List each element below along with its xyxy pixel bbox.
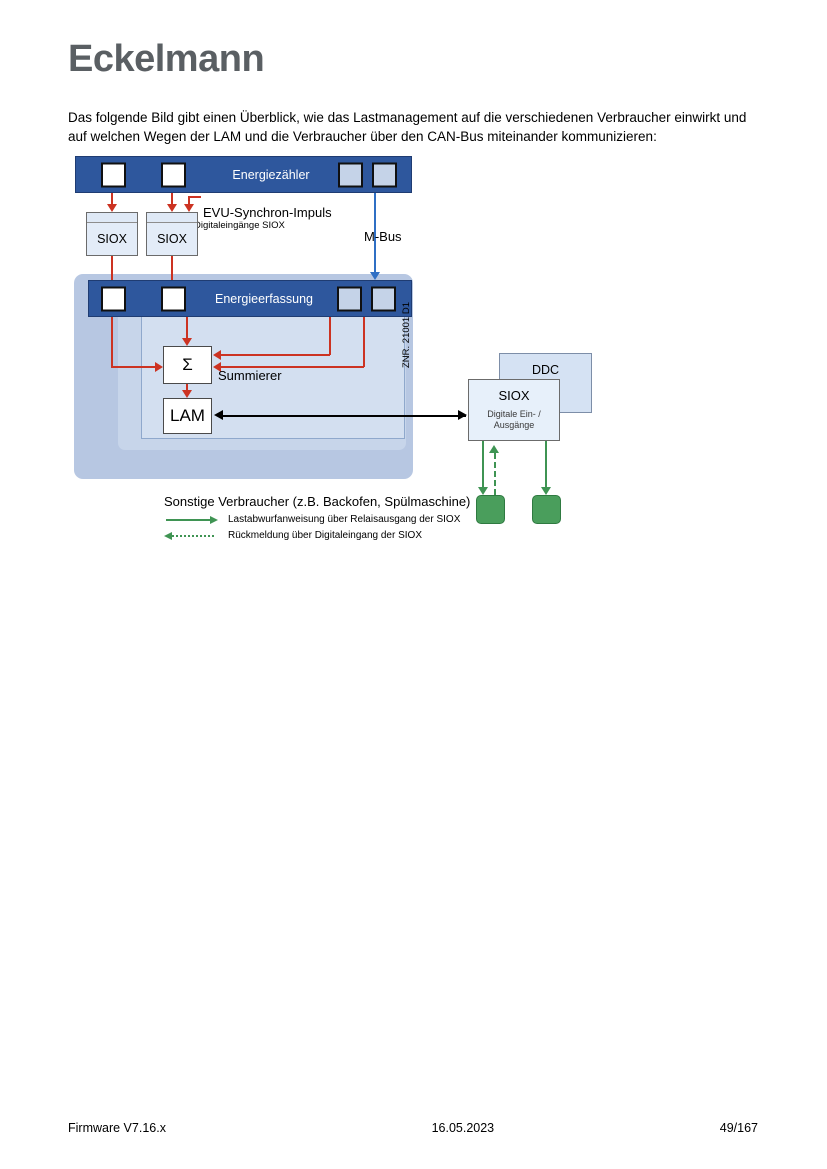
label-digitaleingaenge-siox: Digitaleingänge SIOX (194, 220, 285, 231)
system-overview-diagram: Energiezähler EVU-Synchron-Impuls Digita… (68, 150, 768, 550)
label-znr: ZNR. 21001 D1 (401, 302, 412, 368)
consumer-box-2 (532, 495, 561, 524)
arrow-siox-consumer-1 (478, 487, 488, 495)
siox-input-box-2: SIOX (146, 212, 198, 256)
siox-output-title: SIOX (498, 388, 529, 403)
energiezaehler-port-1 (101, 162, 126, 187)
energieerfassung-port-1 (101, 286, 126, 311)
arrow-canbus-to-siox (458, 410, 467, 420)
legend-item-label: Rückmeldung über Digitaleingang der SIOX (228, 530, 422, 541)
can-bus-line (222, 415, 466, 417)
signal-line-p4-down (363, 317, 365, 367)
arrow-ez1-siox1 (107, 204, 117, 212)
signal-line-p2-down (186, 317, 188, 338)
siox-output-box: SIOX Digitale Ein- / Ausgänge (468, 379, 560, 441)
siox-box-header-strip (87, 213, 137, 223)
energiezaehler-port-3 (338, 162, 363, 187)
leader-line-evu (189, 196, 201, 198)
arrow-canbus-to-lam (214, 410, 223, 420)
footer-firmware: Firmware V7.16.x (68, 1121, 166, 1135)
label-mbus: M-Bus (364, 229, 402, 244)
signal-line-ez2-siox2 (171, 193, 173, 204)
signal-line-siox1-ee (111, 256, 113, 280)
legend-sample-solid-arrow-icon (164, 515, 222, 525)
company-logo: Eckelmann (68, 38, 264, 81)
footer-date: 16.05.2023 (432, 1121, 495, 1135)
siox-output-subtitle: Digitale Ein- / Ausgänge (469, 409, 559, 431)
green-feedback-line-1 (494, 453, 496, 495)
arrow-consumer-siox-feedback (489, 445, 499, 453)
legend-item-lastabwurf: Lastabwurfanweisung über Relaisausgang d… (164, 514, 470, 525)
signal-line-ez1-siox1 (111, 193, 113, 204)
siox-box-header-strip (147, 213, 197, 223)
summierer-box: Σ (163, 346, 212, 384)
siox-input-label-2: SIOX (157, 223, 187, 255)
intro-paragraph: Das folgende Bild gibt einen Überblick, … (68, 108, 768, 146)
energiezaehler-port-4 (372, 162, 397, 187)
legend-item-label: Lastabwurfanweisung über Relaisausgang d… (228, 514, 460, 525)
signal-line-p3-down (329, 317, 331, 355)
siox-input-label-1: SIOX (97, 223, 127, 255)
arrow-p1-summierer (155, 362, 163, 372)
signal-line-p1-down (111, 317, 113, 368)
consumer-box-1 (476, 495, 505, 524)
energieerfassung-bar: Energieerfassung (88, 280, 412, 317)
signal-line-p3-left (221, 354, 330, 356)
green-line-out-2 (545, 441, 547, 487)
arrow-siox-consumer-2 (541, 487, 551, 495)
arrow-p2-summierer (182, 338, 192, 346)
legend-sample-dotted-arrow-icon (164, 531, 222, 541)
arrow-summierer-lam (182, 390, 192, 398)
arrow-mbus (370, 272, 380, 280)
energieerfassung-port-4 (371, 286, 396, 311)
signal-line-siox2-ee (171, 256, 173, 280)
legend-title: Sonstige Verbraucher (z.B. Backofen, Spü… (164, 494, 470, 509)
energieerfassung-port-3 (337, 286, 362, 311)
label-summierer: Summierer (218, 368, 282, 383)
label-evu-synchron-impuls: EVU-Synchron-Impuls (203, 205, 332, 220)
signal-line-p1-right (111, 366, 155, 368)
green-line-out-1 (482, 441, 484, 487)
footer-page-number: 49/167 (720, 1121, 758, 1135)
diagram-legend: Sonstige Verbraucher (z.B. Backofen, Spü… (164, 494, 470, 541)
arrow-ez2-siox2 (167, 204, 177, 212)
siox-input-box-1: SIOX (86, 212, 138, 256)
lam-box: LAM (163, 398, 212, 434)
energiezaehler-bar: Energiezähler (75, 156, 412, 193)
page-footer: Firmware V7.16.x 16.05.2023 49/167 (68, 1121, 758, 1135)
legend-item-rueckmeldung: Rückmeldung über Digitaleingang der SIOX (164, 530, 470, 541)
arrow-p3-summierer (213, 350, 221, 360)
arrow-evu-impuls (184, 204, 194, 212)
